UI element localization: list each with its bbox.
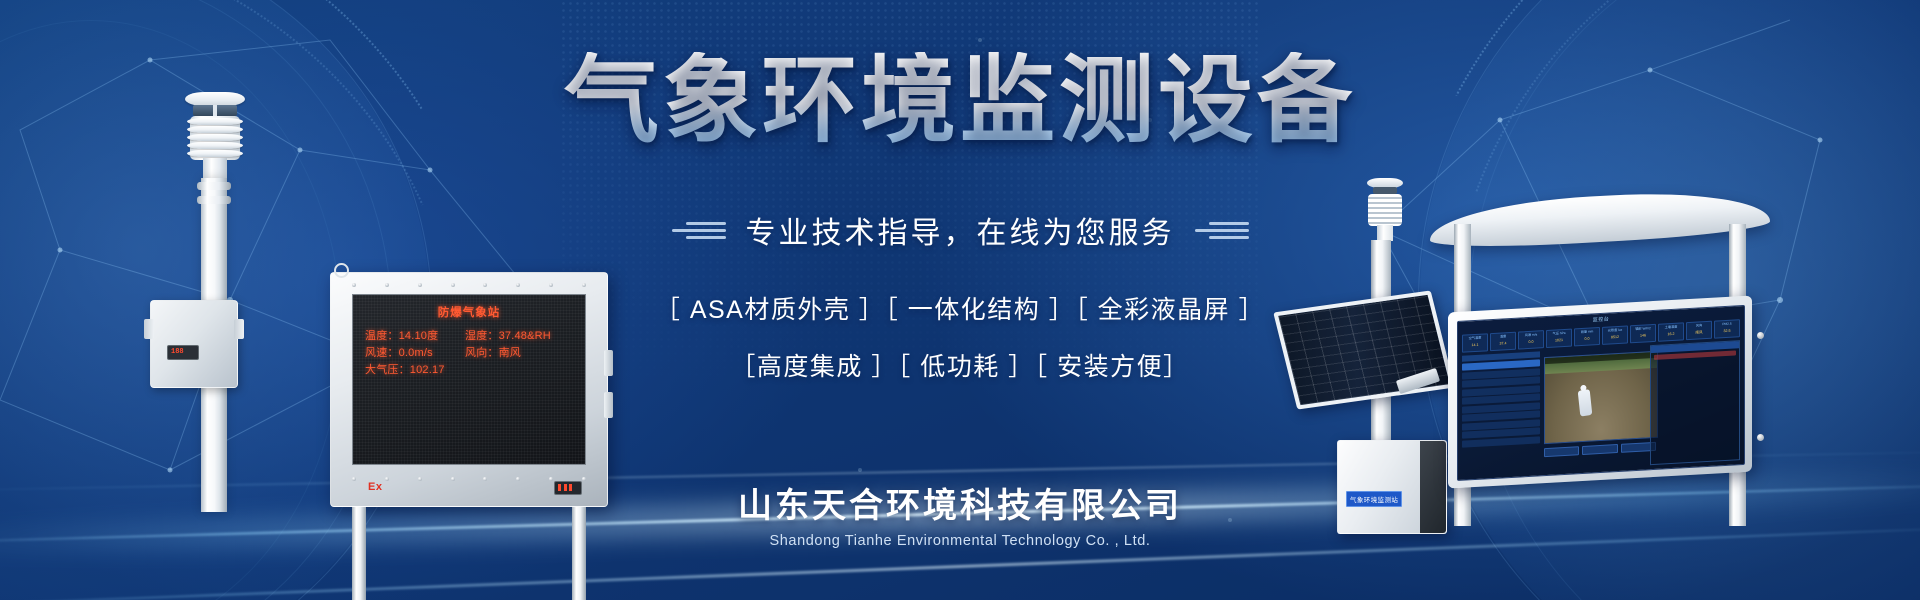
page-title: 气象环境监测设备 [560,52,1360,152]
company-signature: 山东天合环境科技有限公司 Shandong Tianhe Environment… [560,478,1360,549]
feature-list-line-2: ［高度集成 ］［ 低功耗 ］［ 安装方便］ [560,347,1360,383]
banner-text-block: 气象环境监测设备 专业技术指导，在线为您服务 ［ ASA材质外壳 ］［ 一体化结… [0,0,1920,600]
deco-lines-right-icon [1195,222,1249,239]
banner-subtitle-row: 专业技术指导，在线为您服务 [560,208,1360,252]
company-name-cn: 山东天合环境科技有限公司 [560,478,1360,527]
feature-list-line-1: ［ ASA材质外壳 ］［ 一体化结构 ］［ 全彩液晶屏 ］ [560,290,1360,326]
company-name-en: Shandong Tianhe Environmental Technology… [560,533,1360,549]
product-banner: 188 防爆气象站 温度：14.10度 湿度：37.48&RH 风速：0.0m/… [0,0,1920,600]
deco-lines-left-icon [672,222,726,239]
banner-subtitle: 专业技术指导，在线为您服务 [746,208,1175,252]
